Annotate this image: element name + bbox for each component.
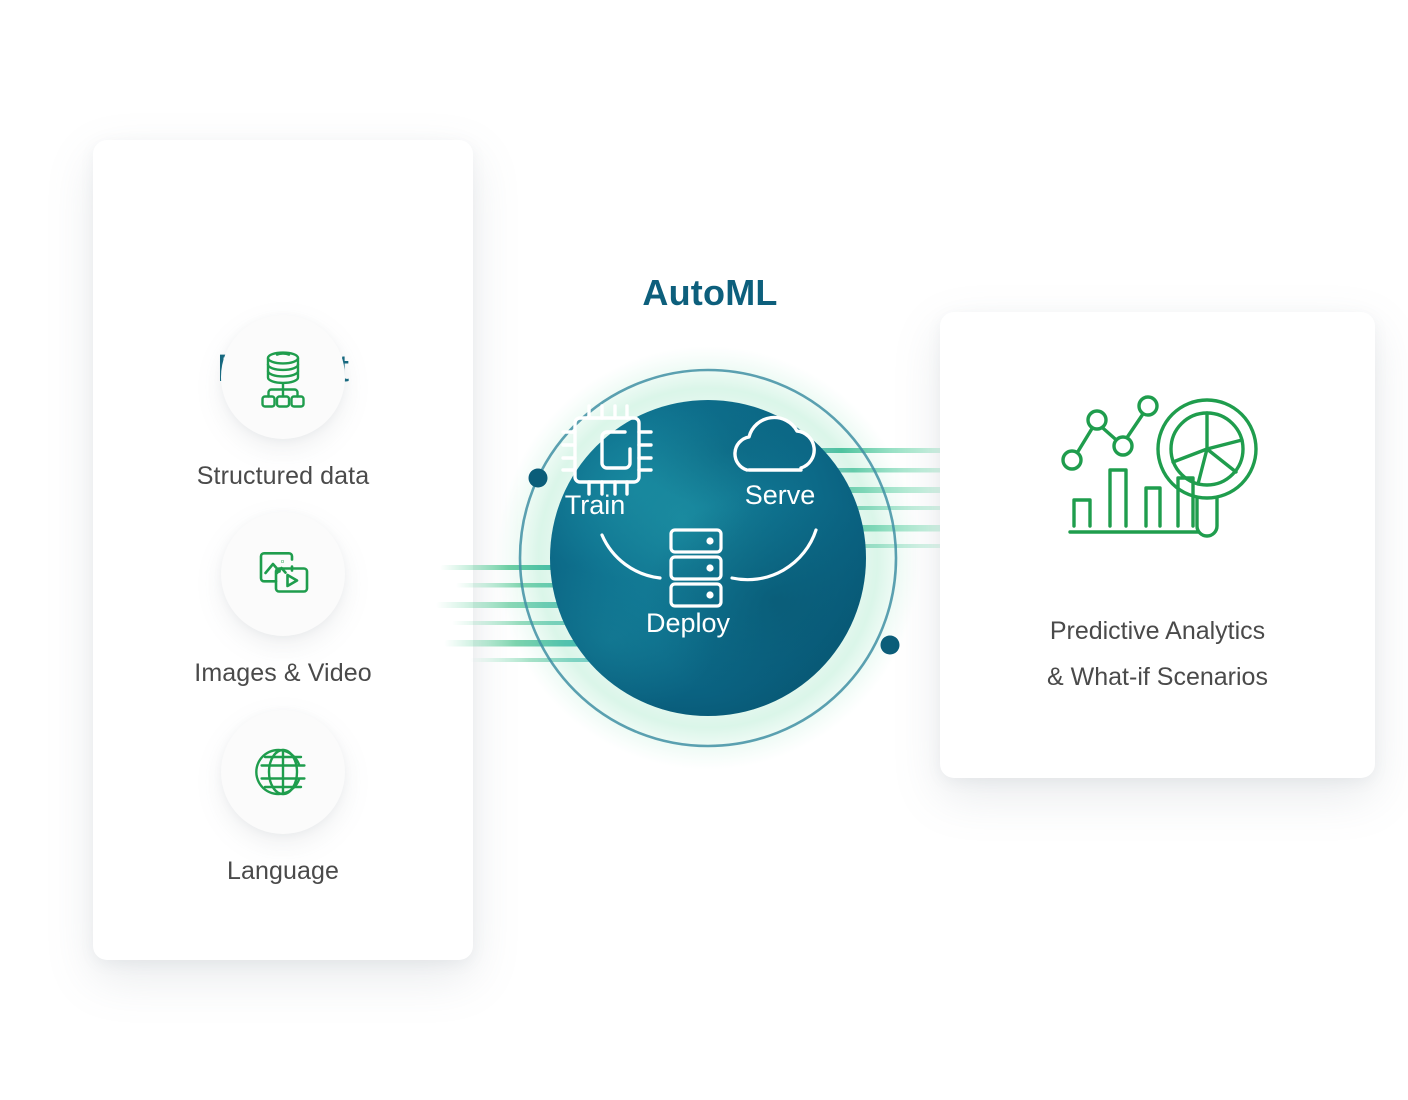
outcome-icon-wrap (940, 382, 1375, 562)
outcome-caption: Predictive Analytics & What-if Scenarios (940, 608, 1375, 700)
icon-bubble (221, 512, 345, 636)
globe-icon (247, 736, 319, 808)
dataset-card: Dataset (93, 140, 473, 960)
image-video-icon (247, 538, 319, 610)
automl-title: AutoML (520, 272, 900, 314)
outcome-caption-line-2: & What-if Scenarios (940, 654, 1375, 700)
stage-label-deploy: Deploy (608, 608, 768, 639)
dataset-item-language[interactable]: Language (93, 710, 473, 886)
outcome-card: Predictive Analytics & What-if Scenarios (940, 312, 1375, 778)
dataset-item-label: Language (93, 857, 473, 886)
automl-cluster: Train Serve Deploy (430, 300, 990, 800)
icon-bubble (221, 710, 345, 834)
stage-label-train: Train (535, 490, 655, 521)
diagram-canvas: Dataset (0, 0, 1408, 1100)
dataset-item-label: Structured data (93, 462, 473, 491)
dataset-item-label: Images & Video (93, 659, 473, 688)
orbit-node-bottom-right (881, 636, 900, 655)
stage-label-serve: Serve (720, 480, 840, 511)
dataset-item-images-video[interactable]: Images & Video (93, 512, 473, 688)
database-hierarchy-icon (247, 341, 319, 413)
icon-bubble (221, 315, 345, 439)
dataset-item-structured-data[interactable]: Structured data (93, 315, 473, 491)
outcome-caption-line-1: Predictive Analytics (940, 608, 1375, 654)
orbit-node-top-left (529, 469, 548, 488)
automl-sphere (430, 300, 990, 800)
analytics-magnifier-icon (1052, 382, 1264, 562)
